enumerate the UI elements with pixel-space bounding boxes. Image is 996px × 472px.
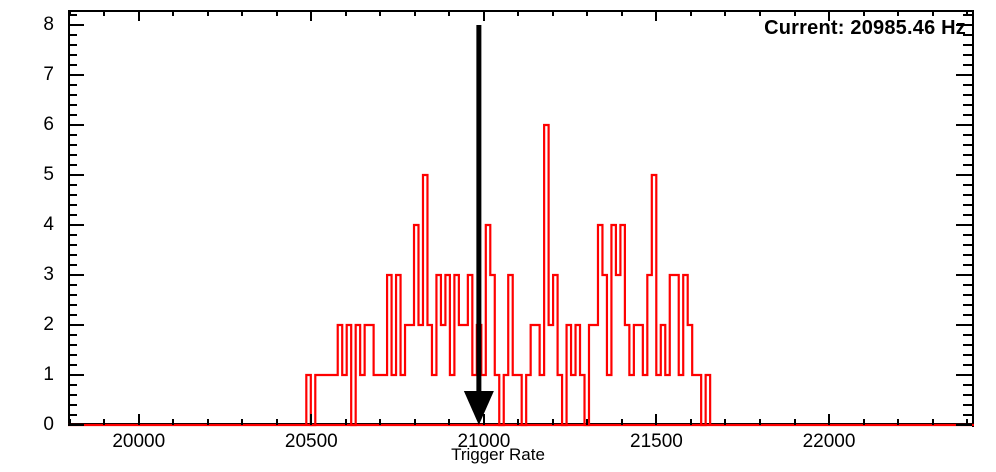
y-axis-tick-minor [68,304,77,306]
y-axis-tick-minor-right [963,134,972,136]
y-axis-tick-minor-right [963,344,972,346]
y-axis-tick-minor-right [963,194,972,196]
y-axis-tick-minor [68,34,77,36]
x-axis-tick-minor-top [690,10,692,16]
x-axis-tick-minor-top [172,10,174,16]
y-axis-tick-minor [68,54,77,56]
x-axis-tick-minor-top [586,10,588,16]
y-axis-tick-minor-right [963,304,972,306]
x-axis-tick-major-top [310,10,312,21]
y-axis-tick-major-right [956,124,972,126]
x-axis-tick-minor [966,419,968,425]
y-axis-tick-minor-right [963,64,972,66]
x-axis-tick-minor [794,419,796,425]
y-axis-tick-label: 5 [28,165,54,184]
x-axis-tick-minor-top [897,10,899,16]
current-rate-label: Current: 20985.46 Hz [764,17,966,40]
y-axis-tick-minor [68,244,77,246]
x-axis-tick-label: 20000 [112,432,165,451]
x-axis-tick-major [655,414,657,425]
y-axis-tick-minor-right [963,164,972,166]
y-axis-tick-minor [68,164,77,166]
x-axis-tick-minor [586,419,588,425]
y-axis-tick-minor [68,234,77,236]
y-axis-tick-minor-right [963,34,972,36]
y-axis-tick-major [68,374,84,376]
y-axis-tick-minor-right [963,204,972,206]
x-axis-tick-major-top [483,10,485,21]
y-axis-tick-minor [68,154,77,156]
plot-frame-right-edge [972,10,974,427]
y-axis-tick-label: 7 [28,65,54,84]
y-axis-tick-minor [68,354,77,356]
x-axis-tick-minor [172,419,174,425]
x-axis-tick-minor-top [207,10,209,16]
y-axis-tick-minor-right [963,44,972,46]
x-axis-tick-minor [690,419,692,425]
x-axis-tick-minor-top [966,10,968,16]
x-axis-tick-minor-top [621,10,623,16]
y-axis-tick-minor [68,144,77,146]
x-axis-tick-major-top [655,10,657,21]
y-axis-tick-minor-right [963,154,972,156]
y-axis-tick-minor [68,254,77,256]
x-axis-tick-minor [897,419,899,425]
y-axis-tick-minor [68,344,77,346]
x-axis-tick-minor [414,419,416,425]
x-axis-tick-minor [517,419,519,425]
y-axis-tick-minor-right [963,364,972,366]
plot-frame [68,10,974,425]
y-axis-tick-minor-right [963,214,972,216]
y-axis-tick-label: 6 [28,115,54,134]
x-axis-tick-minor-top [414,10,416,16]
y-axis-tick-major-right [956,174,972,176]
y-axis-tick-minor-right [963,184,972,186]
x-axis-tick-minor-top [794,10,796,16]
x-axis-tick-major-top [828,10,830,21]
y-axis-tick-minor [68,94,77,96]
y-axis-tick-major [68,174,84,176]
y-axis-tick-major [68,274,84,276]
x-axis-tick-minor [863,419,865,425]
y-axis-tick-minor-right [963,244,972,246]
x-axis-tick-minor [448,419,450,425]
y-axis-tick-minor-right [963,54,972,56]
x-axis-tick-minor-top [103,10,105,16]
x-axis-tick-major [828,414,830,425]
y-axis-tick-minor-right [963,114,972,116]
x-axis-tick-minor [345,419,347,425]
y-axis-tick-minor [68,284,77,286]
y-axis-tick-minor [68,294,77,296]
x-axis-tick-label: 20500 [285,432,338,451]
y-axis-tick-label: 2 [28,315,54,334]
y-axis-tick-major [68,324,84,326]
y-axis-tick-major [68,224,84,226]
y-axis-tick-minor [68,414,77,416]
x-axis-tick-label: 21000 [457,432,510,451]
y-axis-tick-minor-right [963,314,972,316]
y-axis-tick-label: 8 [28,15,54,34]
y-axis-tick-minor [68,44,77,46]
y-axis-tick-minor [68,64,77,66]
y-axis-tick-minor-right [963,354,972,356]
y-axis-tick-minor [68,204,77,206]
y-axis-tick-label: 0 [28,415,54,434]
y-axis-tick-major-right [956,74,972,76]
y-axis-tick-minor [68,84,77,86]
y-axis-tick-minor-right [963,104,972,106]
y-axis-tick-minor-right [963,404,972,406]
y-axis-tick-minor [68,314,77,316]
y-axis-tick-minor [68,394,77,396]
y-axis-tick-major-right [956,424,972,426]
y-axis-tick-major-right [956,324,972,326]
y-axis-tick-minor-right [963,284,972,286]
y-axis-tick-minor-right [963,384,972,386]
x-axis-tick-minor-top [724,10,726,16]
x-axis-tick-major [310,414,312,425]
histogram-canvas: Current: 20985.46 Hz Trigger Rate 012345… [0,0,996,472]
x-axis-tick-minor [276,419,278,425]
y-axis-tick-major-right [956,374,972,376]
x-axis-tick-minor-top [517,10,519,16]
y-axis-tick-minor-right [963,264,972,266]
x-axis-tick-minor [552,419,554,425]
y-axis-tick-minor [68,194,77,196]
y-axis-tick-minor [68,404,77,406]
x-axis-tick-minor [69,419,71,425]
y-axis-tick-minor [68,114,77,116]
y-axis-tick-major [68,124,84,126]
y-axis-tick-major [68,24,84,26]
y-axis-tick-minor-right [963,254,972,256]
y-axis-tick-minor-right [963,334,972,336]
x-axis-tick-minor [379,419,381,425]
y-axis-tick-major-right [956,274,972,276]
y-axis-tick-label: 3 [28,265,54,284]
x-axis-tick-major [138,414,140,425]
x-axis-tick-major [483,414,485,425]
y-axis-tick-minor-right [963,84,972,86]
x-axis-tick-minor-top [932,10,934,16]
x-axis-tick-minor [724,419,726,425]
x-axis-tick-minor-top [379,10,381,16]
x-axis-tick-minor-top [241,10,243,16]
x-axis-tick-label: 21500 [630,432,683,451]
y-axis-tick-minor [68,104,77,106]
x-axis-tick-minor-top [448,10,450,16]
y-axis-tick-minor [68,334,77,336]
x-axis-tick-label: 22000 [803,432,856,451]
y-axis-tick-minor-right [963,94,972,96]
x-axis-tick-minor-top [552,10,554,16]
x-axis-tick-minor-top [276,10,278,16]
x-axis-tick-minor [241,419,243,425]
y-axis-tick-label: 4 [28,215,54,234]
y-axis-tick-minor-right [963,294,972,296]
y-axis-tick-minor [68,364,77,366]
y-axis-tick-major-right [956,224,972,226]
x-axis-tick-minor [621,419,623,425]
x-axis-tick-minor-top [759,10,761,16]
x-axis-tick-minor-top [345,10,347,16]
y-axis-tick-minor [68,134,77,136]
x-axis-tick-minor [932,419,934,425]
y-axis-tick-minor-right [963,234,972,236]
y-axis-tick-minor [68,384,77,386]
x-axis-tick-minor-top [69,10,71,16]
y-axis-tick-label: 1 [28,365,54,384]
y-axis-tick-minor-right [963,394,972,396]
y-axis-tick-minor-right [963,414,972,416]
y-axis-tick-minor [68,184,77,186]
y-axis-tick-minor [68,264,77,266]
x-axis-tick-minor [759,419,761,425]
x-axis-tick-minor [103,419,105,425]
x-axis-tick-major-top [138,10,140,21]
x-axis-tick-minor-top [863,10,865,16]
y-axis-tick-minor [68,214,77,216]
y-axis-tick-major-right [956,24,972,26]
y-axis-tick-minor-right [963,144,972,146]
x-axis-tick-minor [207,419,209,425]
y-axis-tick-major [68,74,84,76]
